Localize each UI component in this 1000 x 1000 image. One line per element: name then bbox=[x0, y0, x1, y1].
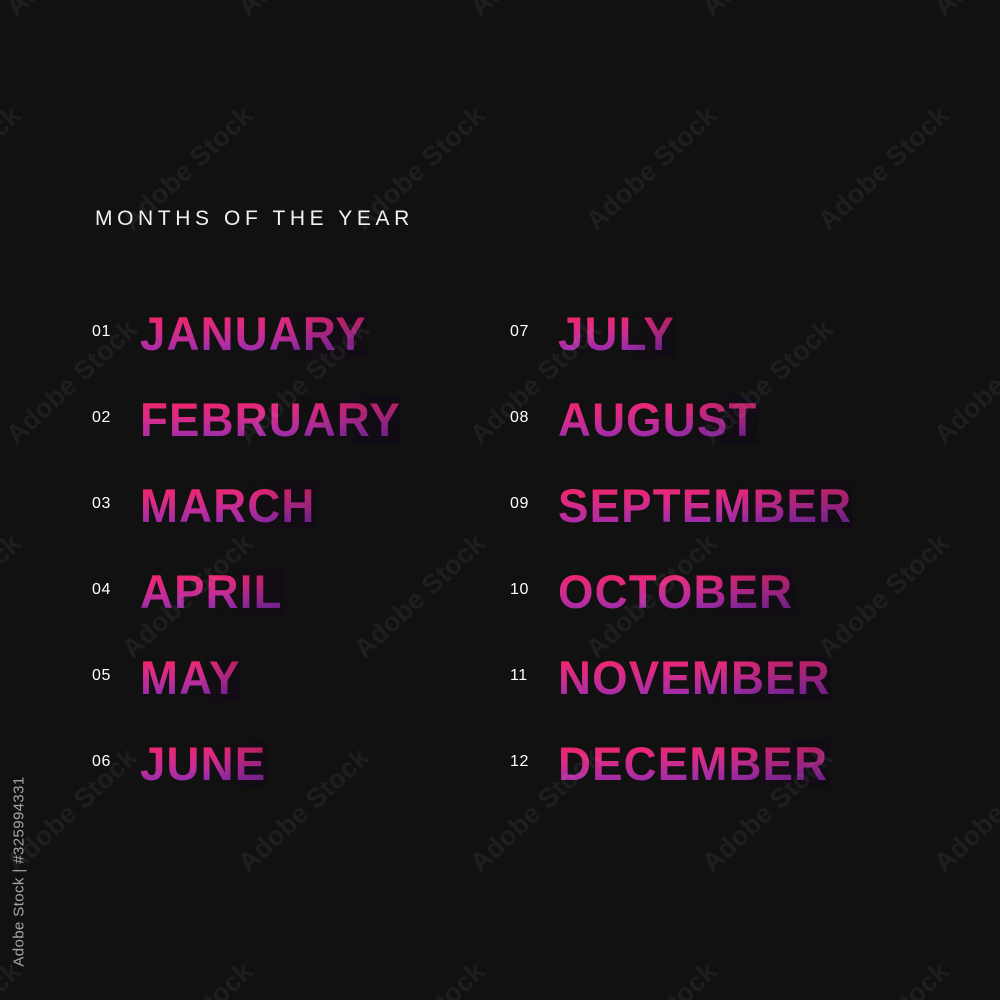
month-index-02: 02 bbox=[92, 410, 140, 428]
month-row[interactable]: 10OCTOBER bbox=[510, 548, 861, 634]
month-row[interactable]: 07JULY bbox=[510, 290, 861, 376]
month-column-left: 01JANUARY02FEBRUARY03MARCH04APRIL05MAY06… bbox=[92, 290, 409, 806]
month-name-april[interactable]: APRIL bbox=[140, 568, 283, 615]
month-name-september[interactable]: SEPTEMBER bbox=[558, 482, 852, 529]
month-index-04: 04 bbox=[92, 582, 140, 600]
month-row[interactable]: 09SEPTEMBER bbox=[510, 462, 861, 548]
month-row[interactable]: 11NOVEMBER bbox=[510, 634, 861, 720]
month-name-july[interactable]: JULY bbox=[558, 310, 675, 357]
month-row[interactable]: 01JANUARY bbox=[92, 290, 409, 376]
month-name-february[interactable]: FEBRUARY bbox=[140, 396, 401, 443]
month-name-december[interactable]: DECEMBER bbox=[558, 740, 828, 787]
month-name-october[interactable]: OCTOBER bbox=[558, 568, 793, 615]
month-index-01: 01 bbox=[92, 324, 140, 342]
month-row[interactable]: 12DECEMBER bbox=[510, 720, 861, 806]
month-index-10: 10 bbox=[510, 582, 558, 600]
month-index-03: 03 bbox=[92, 496, 140, 514]
month-row[interactable]: 08AUGUST bbox=[510, 376, 861, 462]
month-row[interactable]: 06JUNE bbox=[92, 720, 409, 806]
month-index-05: 05 bbox=[92, 668, 140, 686]
month-row[interactable]: 05MAY bbox=[92, 634, 409, 720]
month-index-06: 06 bbox=[92, 754, 140, 772]
month-name-march[interactable]: MARCH bbox=[140, 482, 315, 529]
month-row[interactable]: 03MARCH bbox=[92, 462, 409, 548]
page-title: MONTHS OF THE YEAR bbox=[95, 207, 414, 231]
month-index-12: 12 bbox=[510, 754, 558, 772]
month-name-august[interactable]: AUGUST bbox=[558, 396, 757, 443]
month-row[interactable]: 04APRIL bbox=[92, 548, 409, 634]
month-name-june[interactable]: JUNE bbox=[140, 740, 266, 787]
month-index-08: 08 bbox=[510, 410, 558, 428]
month-index-07: 07 bbox=[510, 324, 558, 342]
month-column-right: 07JULY08AUGUST09SEPTEMBER10OCTOBER11NOVE… bbox=[510, 290, 861, 806]
month-index-09: 09 bbox=[510, 496, 558, 514]
month-index-11: 11 bbox=[510, 668, 558, 686]
month-name-november[interactable]: NOVEMBER bbox=[558, 654, 831, 701]
poster-canvas: MONTHS OF THE YEAR 01JANUARY02FEBRUARY03… bbox=[0, 0, 1000, 1000]
month-row[interactable]: 02FEBRUARY bbox=[92, 376, 409, 462]
month-name-january[interactable]: JANUARY bbox=[140, 310, 367, 357]
month-name-may[interactable]: MAY bbox=[140, 654, 241, 701]
